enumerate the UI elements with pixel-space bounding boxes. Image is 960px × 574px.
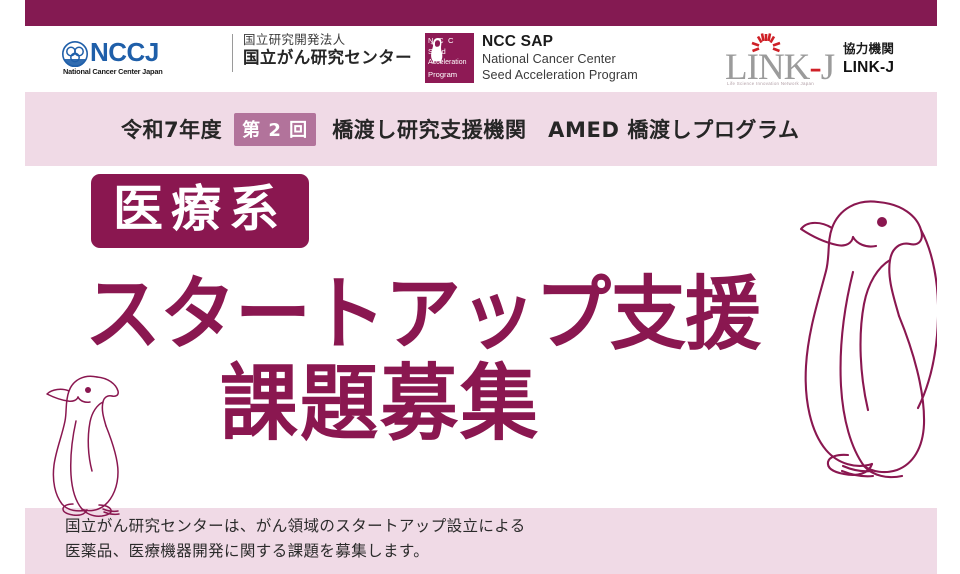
link-j-logo: LINK-J Life Science Innovation Network J… xyxy=(725,32,925,88)
headline-line-1: スタートアップ支援 xyxy=(85,274,760,355)
fiscal-year-label: 令和7年度 xyxy=(121,114,222,144)
round-number-badge: 第 2 回 xyxy=(234,113,316,146)
logo-strip: NCCJ National Cancer Center Japan 国立研究開発… xyxy=(25,26,937,92)
nccj-circle-mark-icon xyxy=(62,41,88,67)
link-j-japanese: 協力機関 LINK-J xyxy=(843,40,894,78)
penguin-outline-icon xyxy=(40,364,160,524)
ncc-sap-line3: Seed Acceleration Program xyxy=(482,67,638,83)
headline-line-2: 課題募集 xyxy=(220,363,540,446)
ncc-sap-badge: N C C Seed Acceleration Program xyxy=(425,33,474,83)
poster-content-frame: NCCJ National Cancer Center Japan 国立研究開発… xyxy=(25,0,937,574)
nccj-subtitle: National Cancer Center Japan xyxy=(63,67,163,76)
link-j-tagline: Life Science Innovation Network Japan xyxy=(727,81,814,86)
category-tag-label: 医療系 xyxy=(113,180,287,238)
logo-divider xyxy=(232,34,233,72)
penguin-outline-icon xyxy=(800,186,937,476)
ncc-sap-logo: N C C Seed Acceleration Program NC xyxy=(425,32,725,86)
nccj-jp-line1: 国立研究開発法人 xyxy=(243,32,443,47)
program-name-label: 橋渡し研究支援機関 AMED 橋渡しプログラム xyxy=(332,114,799,144)
lead-line-2: 医薬品、医療機器開発に関する課題を募集します。 xyxy=(65,539,526,564)
ncc-sap-text: NCC SAP National Cancer Center Seed Acce… xyxy=(482,32,638,83)
top-accent-bar xyxy=(25,0,937,26)
lead-line-1: 国立がん研究センターは、がん領域のスタートアップ設立による xyxy=(65,514,526,539)
category-tag: 医療系 xyxy=(91,174,309,248)
link-j-word-post: J xyxy=(821,47,834,88)
nccj-wordmark: NCCJ xyxy=(90,38,159,66)
link-j-partner-label: 協力機関 xyxy=(843,40,894,57)
program-band-row: 令和7年度 第 2 回 橋渡し研究支援機関 AMED 橋渡しプログラム xyxy=(121,92,800,166)
ncc-sap-line2: National Cancer Center xyxy=(482,51,638,67)
sap-badge-line4: Program xyxy=(428,70,457,79)
lead-paragraph: 国立がん研究センターは、がん領域のスタートアップ設立による 医薬品、医療機器開発… xyxy=(65,514,526,564)
nccj-japanese-name: 国立研究開発法人 国立がん研究センター xyxy=(243,32,443,69)
ncc-sap-title: NCC SAP xyxy=(482,32,638,51)
poster-root: NCCJ National Cancer Center Japan 国立研究開発… xyxy=(0,0,960,574)
penguin-icon xyxy=(428,37,445,63)
link-j-partner-name: LINK-J xyxy=(843,57,894,78)
nccj-jp-line2: 国立がん研究センター xyxy=(243,47,443,69)
nccj-logo: NCCJ National Cancer Center Japan xyxy=(62,38,227,82)
program-band: 令和7年度 第 2 回 橋渡し研究支援機関 AMED 橋渡しプログラム xyxy=(25,92,937,166)
poster-main: 医療系 スタートアップ支援 課題募集 国立がん研究センターは、がん領域のスタート… xyxy=(25,166,937,574)
